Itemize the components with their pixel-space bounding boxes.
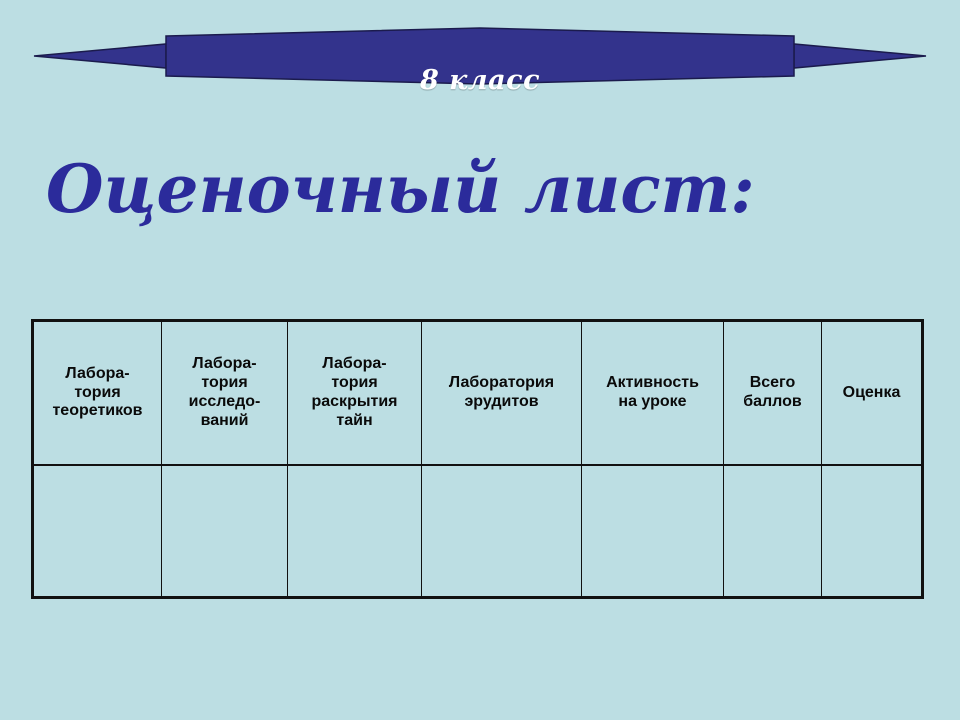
cell-vsego-ballov[interactable] xyxy=(724,465,822,598)
column-header-label: Всего баллов xyxy=(727,374,818,412)
page-title: Оценочный лист: xyxy=(46,155,746,224)
column-header-vsego-ballov: Всего баллов xyxy=(724,321,822,466)
ribbon-right-tail-icon xyxy=(794,44,926,68)
cell-laboratoriya-eruditov[interactable] xyxy=(422,465,582,598)
column-header-label: Оценка xyxy=(825,384,918,403)
ribbon-left-tail-icon xyxy=(34,44,166,68)
ribbon-banner: 8 класс xyxy=(0,24,960,88)
column-header-laboratoriya-issledovaniy: Лабора- тория исследо- ваний xyxy=(162,321,288,466)
table-header-row: Лабора- тория теоретиков Лабора- тория и… xyxy=(33,321,923,466)
score-table: Лабора- тория теоретиков Лабора- тория и… xyxy=(31,319,924,599)
column-header-label: Лабора- тория исследо- ваний xyxy=(165,355,284,431)
column-header-label: Лабора- тория теоретиков xyxy=(37,365,158,422)
score-table-header: Лабора- тория теоретиков Лабора- тория и… xyxy=(33,321,923,466)
column-header-aktivnost-na-uroke: Активность на уроке xyxy=(582,321,724,466)
column-header-laboratoriya-eruditov: Лаборатория эрудитов xyxy=(422,321,582,466)
table-row xyxy=(33,465,923,598)
cell-otsenka[interactable] xyxy=(822,465,923,598)
column-header-label: Активность на уроке xyxy=(585,374,720,412)
column-header-otsenka: Оценка xyxy=(822,321,923,466)
cell-aktivnost-na-uroke[interactable] xyxy=(582,465,724,598)
ribbon-banner-shape xyxy=(0,24,960,88)
column-header-laboratoriya-teoretikov: Лабора- тория теоретиков xyxy=(33,321,162,466)
cell-laboratoriya-issledovaniy[interactable] xyxy=(162,465,288,598)
column-header-laboratoriya-raskrytiya-tayn: Лабора- тория раскрытия тайн xyxy=(288,321,422,466)
column-header-label: Лаборатория эрудитов xyxy=(425,374,578,412)
cell-laboratoriya-raskrytiya-tayn[interactable] xyxy=(288,465,422,598)
slide-canvas: 8 класс Оценочный лист: Лабора- тория те… xyxy=(0,0,960,720)
cell-laboratoriya-teoretikov[interactable] xyxy=(33,465,162,598)
score-table-container: Лабора- тория теоретиков Лабора- тория и… xyxy=(31,319,921,597)
score-table-body xyxy=(33,465,923,598)
ribbon-body-shape xyxy=(166,28,794,84)
column-header-label: Лабора- тория раскрытия тайн xyxy=(291,355,418,431)
